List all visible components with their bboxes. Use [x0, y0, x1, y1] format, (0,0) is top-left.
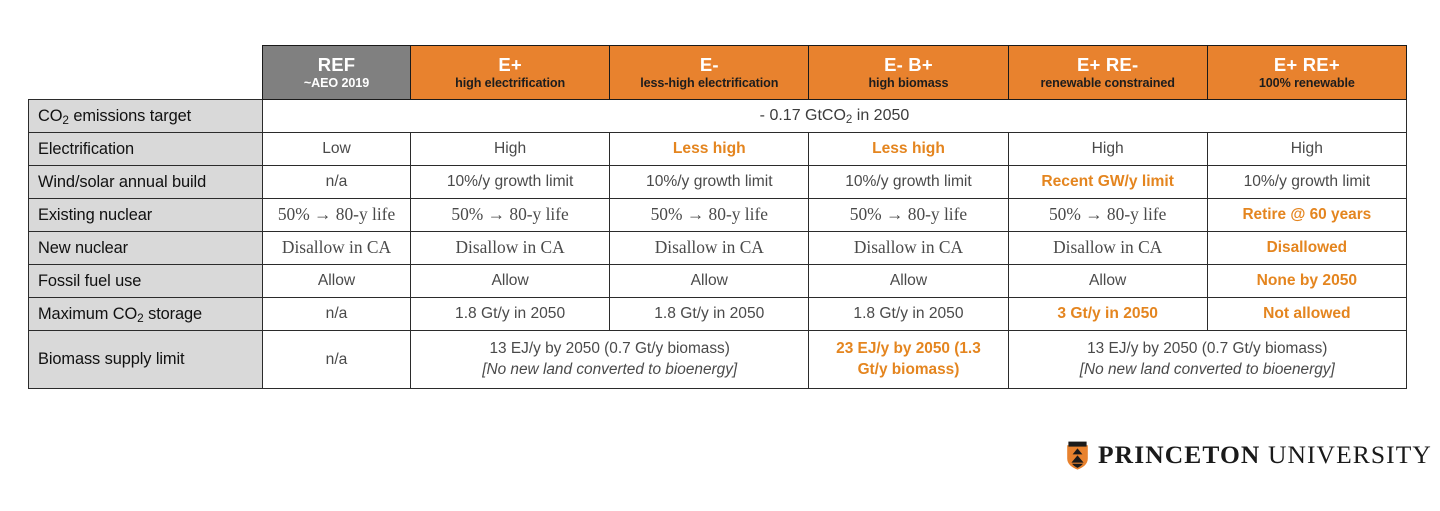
table-cell: 50% → 80-y life: [411, 199, 610, 232]
column-header-subtitle: renewable constrained: [1009, 76, 1207, 90]
cell-line-2: [No new land converted to bioenergy]: [415, 360, 804, 380]
table-cell: 1.8 Gt/y in 2050: [809, 298, 1008, 331]
table-cell: Allow: [411, 265, 610, 298]
table-cell: 10%/y growth limit: [809, 166, 1008, 199]
logo-word-princeton: PRINCETON: [1098, 440, 1260, 469]
column-header-title: E+: [411, 55, 609, 76]
table-cell: 23 EJ/y by 2050 (1.3Gt/y biomass): [809, 331, 1008, 389]
table-cell: Allow: [263, 265, 411, 298]
column-header-subtitle: high biomass: [809, 76, 1007, 90]
table-header: REF ~AEO 2019 E+ high electrification E-…: [29, 46, 1407, 100]
table-cell: Disallow in CA: [411, 232, 610, 265]
column-header-ereplus: E+ RE+ 100% renewable: [1207, 46, 1406, 100]
column-header-subtitle: high electrification: [411, 76, 609, 90]
table-cell: High: [1008, 133, 1207, 166]
column-header-subtitle: 100% renewable: [1208, 76, 1406, 90]
table-body: CO2 emissions target- 0.17 GtCO2 in 2050…: [29, 100, 1407, 389]
table-row: Existing nuclear50% → 80-y life50% → 80-…: [29, 199, 1407, 232]
cell-line-1: 23 EJ/y by 2050 (1.3: [813, 339, 1003, 359]
table-cell: 10%/y growth limit: [610, 166, 809, 199]
column-header-subtitle: ~AEO 2019: [263, 76, 410, 90]
logo-word-university: UNIVERSITY: [1268, 440, 1432, 469]
column-header-title: REF: [263, 55, 410, 76]
table-row: Wind/solar annual buildn/a10%/y growth l…: [29, 166, 1407, 199]
column-header-title: E-: [610, 55, 808, 76]
table-cell: 1.8 Gt/y in 2050: [411, 298, 610, 331]
column-header-subtitle: less-high electrification: [610, 76, 808, 90]
princeton-university-logo: PRINCETON UNIVERSITY: [1066, 440, 1432, 470]
column-header-ereminus: E+ RE- renewable constrained: [1008, 46, 1207, 100]
table-cell: n/a: [263, 331, 411, 389]
cell-line-2: [No new land converted to bioenergy]: [1013, 360, 1402, 380]
table-row: Biomass supply limitn/a13 EJ/y by 2050 (…: [29, 331, 1407, 389]
logo-wordmark: PRINCETON UNIVERSITY: [1098, 440, 1432, 470]
table-cell: Allow: [610, 265, 809, 298]
row-label: Electrification: [29, 133, 263, 166]
princeton-shield-icon: [1066, 441, 1089, 470]
table-cell: Low: [263, 133, 411, 166]
table-cell: 13 EJ/y by 2050 (0.7 Gt/y biomass)[No ne…: [411, 331, 809, 389]
header-corner-blank: [29, 46, 263, 100]
table-cell: Less high: [809, 133, 1008, 166]
table-cell: n/a: [263, 298, 411, 331]
table-row: CO2 emissions target- 0.17 GtCO2 in 2050: [29, 100, 1407, 133]
table-cell: Less high: [610, 133, 809, 166]
cell-line-1: 13 EJ/y by 2050 (0.7 Gt/y biomass): [1013, 339, 1402, 359]
table-cell: 50% → 80-y life: [610, 199, 809, 232]
cell-line-1: 13 EJ/y by 2050 (0.7 Gt/y biomass): [415, 339, 804, 359]
scenario-comparison-table: REF ~AEO 2019 E+ high electrification E-…: [28, 45, 1406, 389]
column-header-title: E+ RE+: [1208, 55, 1406, 76]
row-label: Biomass supply limit: [29, 331, 263, 389]
table-cell: Retire @ 60 years: [1207, 199, 1406, 232]
table-cell: n/a: [263, 166, 411, 199]
table-cell: Allow: [809, 265, 1008, 298]
row-label: Maximum CO2 storage: [29, 298, 263, 331]
table-cell: 50% → 80-y life: [263, 199, 411, 232]
table-row: Fossil fuel useAllowAllowAllowAllowAllow…: [29, 265, 1407, 298]
table-cell: Allow: [1008, 265, 1207, 298]
row-label: Fossil fuel use: [29, 265, 263, 298]
table-row: New nuclearDisallow in CADisallow in CAD…: [29, 232, 1407, 265]
column-header-ebplus: E- B+ high biomass: [809, 46, 1008, 100]
header-row: REF ~AEO 2019 E+ high electrification E-…: [29, 46, 1407, 100]
scenario-table: REF ~AEO 2019 E+ high electrification E-…: [28, 45, 1407, 389]
column-header-title: E- B+: [809, 55, 1007, 76]
table-cell: Disallow in CA: [263, 232, 411, 265]
table-cell: High: [1207, 133, 1406, 166]
table-cell: Disallow in CA: [809, 232, 1008, 265]
table-cell: 13 EJ/y by 2050 (0.7 Gt/y biomass)[No ne…: [1008, 331, 1406, 389]
table-cell: Disallow in CA: [1008, 232, 1207, 265]
table-cell: Recent GW/y limit: [1008, 166, 1207, 199]
row-label: CO2 emissions target: [29, 100, 263, 133]
table-cell: 10%/y growth limit: [411, 166, 610, 199]
table-row: ElectrificationLowHighLess highLess high…: [29, 133, 1407, 166]
table-cell: 50% → 80-y life: [809, 199, 1008, 232]
table-cell: 3 Gt/y in 2050: [1008, 298, 1207, 331]
table-cell: None by 2050: [1207, 265, 1406, 298]
table-cell: Not allowed: [1207, 298, 1406, 331]
table-cell: Disallowed: [1207, 232, 1406, 265]
column-header-title: E+ RE-: [1009, 55, 1207, 76]
table-cell: Disallow in CA: [610, 232, 809, 265]
cell-line-2: Gt/y biomass): [813, 360, 1003, 380]
column-header-eminus: E- less-high electrification: [610, 46, 809, 100]
cell-co2-target-merged: - 0.17 GtCO2 in 2050: [263, 100, 1407, 133]
row-label: New nuclear: [29, 232, 263, 265]
column-header-ref: REF ~AEO 2019: [263, 46, 411, 100]
table-row: Maximum CO2 storagen/a1.8 Gt/y in 20501.…: [29, 298, 1407, 331]
table-cell: 10%/y growth limit: [1207, 166, 1406, 199]
table-cell: 1.8 Gt/y in 2050: [610, 298, 809, 331]
row-label: Wind/solar annual build: [29, 166, 263, 199]
table-cell: High: [411, 133, 610, 166]
row-label: Existing nuclear: [29, 199, 263, 232]
table-cell: 50% → 80-y life: [1008, 199, 1207, 232]
column-header-eplus: E+ high electrification: [411, 46, 610, 100]
